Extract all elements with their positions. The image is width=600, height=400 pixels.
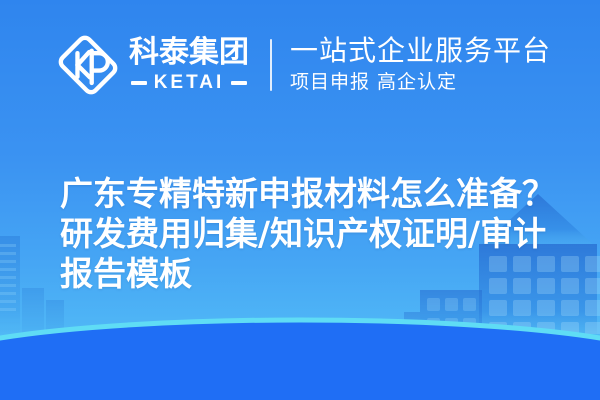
header-slogan: 一站式企业服务平台 项目申报 高企认定 — [290, 36, 551, 94]
wordmark-dash-left-icon — [131, 81, 147, 85]
brand-name-en-row: KETAI — [129, 73, 249, 92]
brand-name-cn: 科泰集团 — [129, 38, 249, 68]
promo-banner: 科泰集团 KETAI 一站式企业服务平台 项目申报 高企认定 广东专精特新申报材… — [0, 0, 600, 400]
brand-name-en: KETAI — [154, 73, 225, 92]
brand-logo[interactable]: 科泰集团 KETAI — [57, 34, 249, 96]
bottom-ground-band — [0, 320, 600, 400]
header-vertical-divider — [270, 39, 272, 91]
page-title-line-3: 报告模板 — [60, 254, 192, 293]
page-title-line-2: 研发费用归集/知识产权证明/审计 — [60, 214, 546, 253]
slogan-primary: 一站式企业服务平台 — [290, 36, 551, 67]
banner-header: 科泰集团 KETAI 一站式企业服务平台 项目申报 高企认定 — [0, 0, 600, 130]
page-title: 广东专精特新申报材料怎么准备？研发费用归集/知识产权证明/审计报告模板 — [60, 174, 570, 294]
page-title-line-1: 广东专精特新申报材料怎么准备？ — [60, 174, 555, 213]
slogan-secondary: 项目申报 高企认定 — [290, 72, 551, 94]
brand-wordmark: 科泰集团 KETAI — [129, 38, 249, 92]
left-tower-silhouette — [0, 236, 20, 346]
ketai-kp-logo-mark-icon — [57, 34, 119, 96]
wordmark-dash-right-icon — [231, 81, 247, 85]
